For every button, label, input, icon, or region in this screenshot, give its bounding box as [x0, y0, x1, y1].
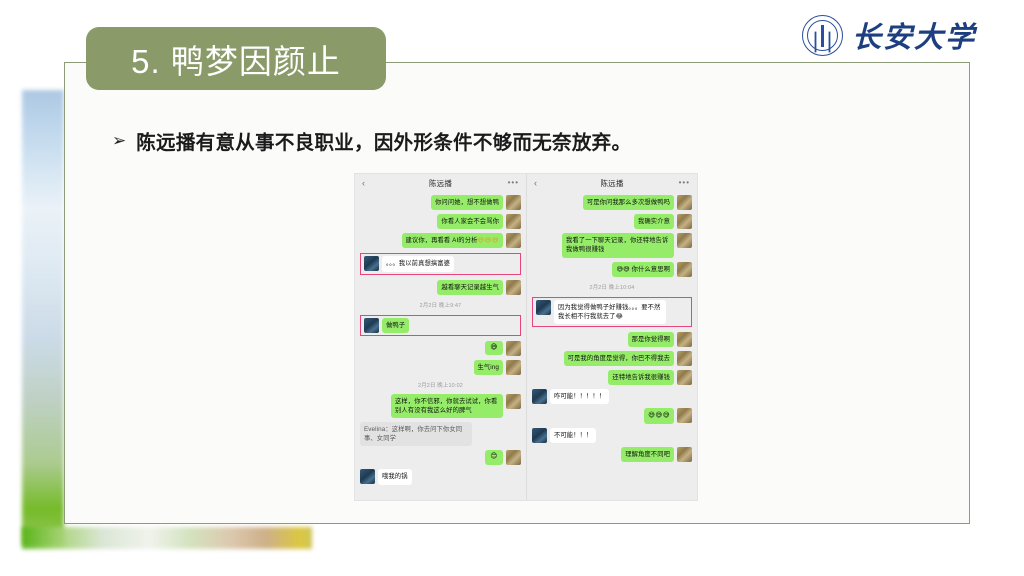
message-row: Evelina：这样啊，你去问下你女同事、女同学 [360, 422, 521, 446]
university-crest-icon [802, 15, 843, 56]
message-bubble: 😊 [485, 450, 503, 464]
chat-screenshot-composite: ‹ 陈远播 ••• 你问问她，想不想做鸭 你看人家会不会骂你 建议你，再看看 A… [355, 174, 697, 500]
message-bubble: 这样，你不信邪，你就去试试，你看别人有没有我这么好的脾气 [391, 394, 503, 418]
avatar [360, 469, 375, 484]
university-name: 长安大学 [852, 14, 976, 56]
bullet-text: 陈远播有意从事不良职业，因外形条件不够而无奈放弃。 [136, 126, 631, 155]
message-bubble: 建议你，再看看 AI的分析😅😅😅 [402, 233, 503, 248]
message-row: 这样，你不信邪，你就去试试，你看别人有没有我这么好的脾气 [360, 394, 521, 418]
page-title: 5. 鸭梦因颜止 [131, 35, 341, 83]
message-bubble: 😅😅😅 [644, 408, 674, 423]
message-bubble: 你问问她，想不想做鸭 [431, 195, 503, 210]
bullet-arrow-icon: ➢ [112, 132, 126, 149]
message-list-right: 可是你问我那么多次想做鸭吗 我确实介意 我看了一下聊天记录，你还特地告诉我做鸭很… [527, 192, 697, 466]
message-row: 建议你，再看看 AI的分析😅😅😅 [360, 233, 521, 248]
message-bubble: 哦我的锅 [378, 469, 412, 484]
message-bubble: 理解角度不同吧 [621, 447, 674, 462]
message-row: 我确实介意 [532, 214, 692, 229]
message-bubble: 😅😅 你什么意思啊 [612, 262, 674, 277]
message-row: 你看人家会不会骂你 [360, 214, 521, 229]
message-bubble: 😅 [485, 341, 503, 355]
bullet-line: ➢ 陈远播有意从事不良职业，因外形条件不够而无奈放弃。 [112, 126, 631, 155]
avatar [677, 214, 692, 229]
avatar [506, 450, 521, 465]
message-text: 建议你，再看看 AI的分析 [406, 237, 478, 244]
highlight-box-right-1: 因为我觉得做鸭子好赚钱。。。要不然我长相不行我就去了😂 [532, 297, 692, 327]
avatar [677, 351, 692, 366]
message-bubble: 你看人家会不会骂你 [437, 214, 503, 229]
message-bubble: 可是我的角度是觉得，你巴不得我去 [564, 351, 674, 366]
message-row: 理解角度不同吧 [532, 447, 692, 462]
timestamp: 2月2日 晚上9:47 [360, 299, 521, 310]
chat-panel-left: ‹ 陈远播 ••• 你问问她，想不想做鸭 你看人家会不会骂你 建议你，再看看 A… [355, 174, 526, 500]
message-bubble: 因为我觉得做鸭子好赚钱。。。要不然我长相不行我就去了😂 [554, 300, 666, 324]
slide-canvas: 5. 鸭梦因颜止 长安大学 ➢ 陈远播有意从事不良职业，因外形条件不够而无奈放弃… [0, 0, 1024, 576]
avatar [677, 233, 692, 248]
message-bubble: 我确实介意 [634, 214, 674, 229]
background-photo-strip-left [22, 90, 64, 545]
slide-title-pill: 5. 鸭梦因颜止 [86, 27, 386, 90]
chat-contact-name: 陈远播 [527, 178, 697, 189]
message-bubble: 越看聊天记录越生气 [437, 280, 503, 295]
message-row: 哦我的锅 [360, 469, 521, 484]
message-row: 咋可能！！！！！ [532, 389, 692, 404]
message-bubble: 。。。我以前真想搞富婆 [382, 256, 454, 271]
chat-contact-name: 陈远播 [355, 178, 526, 189]
avatar [506, 341, 521, 356]
message-row: 你问问她，想不想做鸭 [360, 195, 521, 210]
avatar [506, 360, 521, 375]
message-bubble: 不可能！！！ [550, 428, 596, 443]
avatar [506, 394, 521, 409]
message-row: 生气ing [360, 360, 521, 375]
message-row: 我看了一下聊天记录，你还特地告诉我做鸭很赚钱 [532, 233, 692, 257]
university-logo: 长安大学 [802, 14, 976, 56]
message-list-left: 你问问她，想不想做鸭 你看人家会不会骂你 建议你，再看看 AI的分析😅😅😅 。。… [355, 192, 526, 489]
message-bubble: 可是你问我那么多次想做鸭吗 [583, 195, 674, 210]
message-row: 可是我的角度是觉得，你巴不得我去 [532, 351, 692, 366]
chat-panel-right: ‹ 陈远播 ••• 可是你问我那么多次想做鸭吗 我确实介意 我看了一下聊天记录，… [526, 174, 697, 500]
message-row: 越看聊天记录越生气 [360, 280, 521, 295]
message-bubble: Evelina：这样啊，你去问下你女同事、女同学 [360, 422, 472, 446]
message-bubble: 还特地告诉我很赚钱 [608, 370, 674, 385]
message-row: 😊 [360, 450, 521, 465]
message-row: 可是你问我那么多次想做鸭吗 [532, 195, 692, 210]
timestamp: 2月2日 晚上10:04 [532, 281, 692, 292]
avatar [677, 447, 692, 462]
avatar [506, 280, 521, 295]
avatar [677, 332, 692, 347]
avatar [532, 389, 547, 404]
message-bubble: 咋可能！！！！！ [550, 389, 609, 404]
background-photo-strip-bottom [22, 527, 312, 549]
avatar [506, 233, 521, 248]
avatar [677, 195, 692, 210]
highlight-box-left-2: 做鸭子 [360, 315, 521, 336]
avatar [677, 370, 692, 385]
avatar [532, 428, 547, 443]
avatar [506, 214, 521, 229]
avatar [364, 256, 379, 271]
chat-header-left: ‹ 陈远播 ••• [355, 174, 526, 192]
avatar [536, 300, 551, 315]
message-bubble: 做鸭子 [382, 318, 409, 333]
highlight-box-left-1: 。。。我以前真想搞富婆 [360, 253, 521, 274]
emoji-icon: 😅😅😅 [478, 237, 500, 244]
message-row: 不可能！！！ [532, 428, 692, 443]
message-bubble: 我看了一下聊天记录，你还特地告诉我做鸭很赚钱 [562, 233, 674, 257]
avatar [677, 262, 692, 277]
chat-header-right: ‹ 陈远播 ••• [527, 174, 697, 192]
message-row: 😅 [360, 341, 521, 356]
avatar [677, 408, 692, 423]
avatar [364, 318, 379, 333]
message-row: 还特地告诉我很赚钱 [532, 370, 692, 385]
message-row: 那是你觉得啊 [532, 332, 692, 347]
message-bubble: 那是你觉得啊 [628, 332, 674, 347]
message-bubble: 生气ing [474, 360, 504, 375]
message-row: 😅😅 你什么意思啊 [532, 262, 692, 277]
message-row: 😅😅😅 [532, 408, 692, 423]
timestamp: 2月2日 晚上10:02 [360, 379, 521, 390]
avatar [506, 195, 521, 210]
